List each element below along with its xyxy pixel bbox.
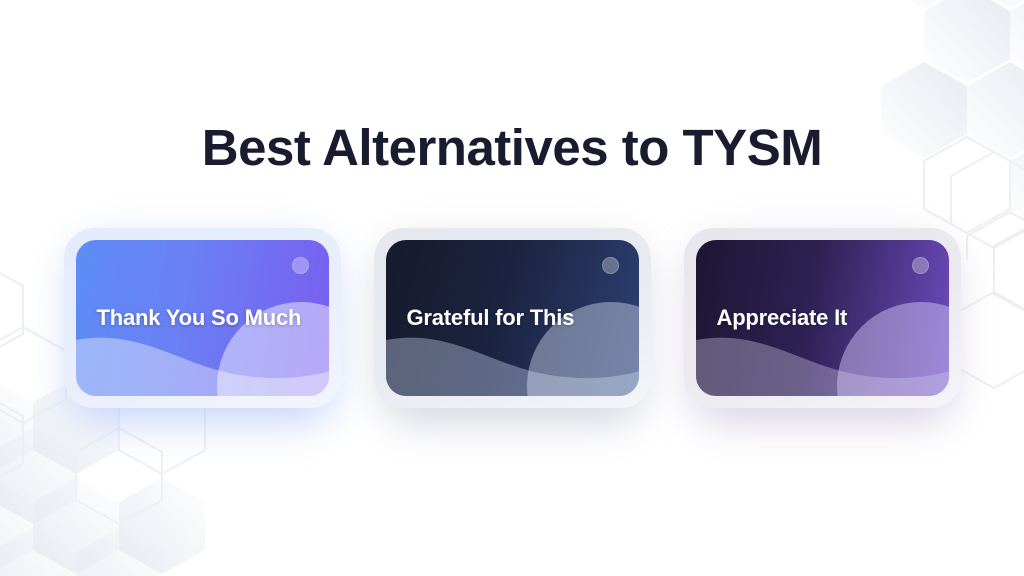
alternative-card-2[interactable]: Grateful for This (386, 240, 639, 396)
alternative-card-3[interactable]: Appreciate It (696, 240, 949, 396)
slide-canvas: Best Alternatives to TYSM Thank You So M… (0, 0, 1024, 576)
page-title: Best Alternatives to TYSM (0, 118, 1024, 177)
card-frame-2[interactable]: Grateful for This (374, 228, 651, 408)
alternative-card-label-1: Thank You So Much (76, 305, 316, 330)
status-dot-icon (292, 257, 309, 274)
card-frame-3[interactable]: Appreciate It (684, 228, 961, 408)
alternative-card-label-3: Appreciate It (696, 305, 862, 330)
wave-decoration-icon (696, 324, 949, 396)
card-frame-1[interactable]: Thank You So Much (64, 228, 341, 408)
status-dot-icon (602, 257, 619, 274)
alternatives-card-row: Thank You So Much Grateful for This (0, 228, 1024, 408)
alternative-card-label-2: Grateful for This (386, 305, 589, 330)
status-dot-icon (912, 257, 929, 274)
wave-decoration-icon (386, 324, 639, 396)
wave-decoration-icon (76, 324, 329, 396)
alternative-card-1[interactable]: Thank You So Much (76, 240, 329, 396)
